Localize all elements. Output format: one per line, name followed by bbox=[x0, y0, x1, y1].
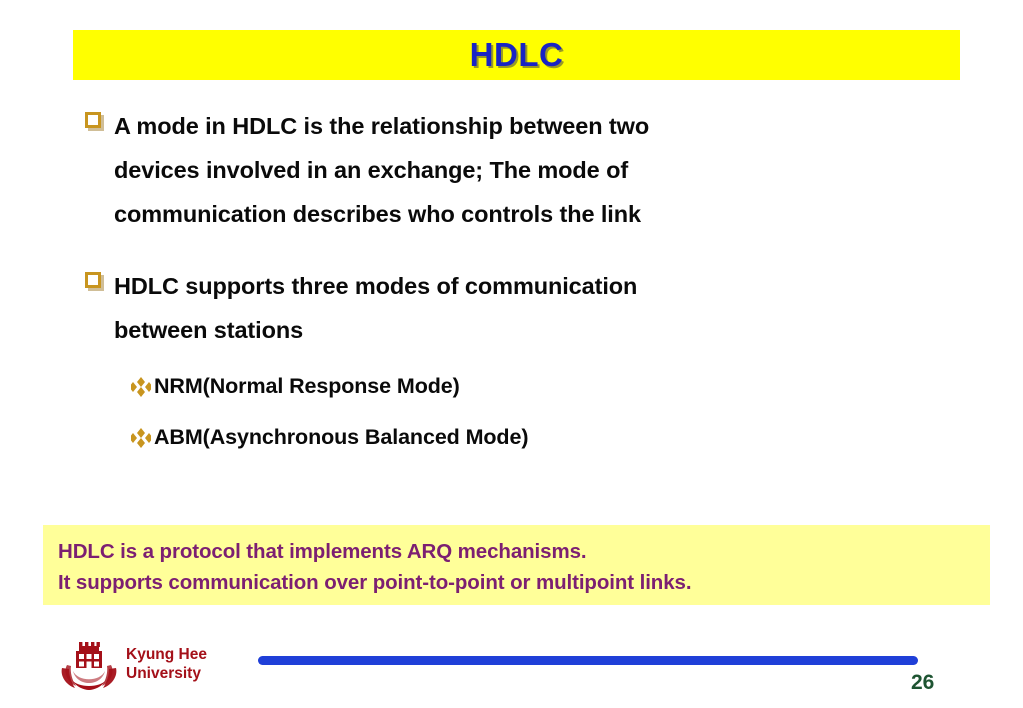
sub-bullet-abm-text: ABM(Asynchronous Balanced Mode) bbox=[154, 425, 528, 450]
slide-canvas: HDLC A mode in HDLC is the relationship … bbox=[0, 0, 1023, 708]
sub-bullet-nrm-text: NRM(Normal Response Mode) bbox=[154, 374, 460, 399]
summary-callout-box: HDLC is a protocol that implements ARQ m… bbox=[43, 525, 990, 605]
page-number: 26 bbox=[911, 671, 934, 695]
bullet-2-line-2: between stations bbox=[114, 317, 303, 343]
kyung-hee-university-crest-icon bbox=[58, 638, 120, 690]
bullet-item-2: HDLC supports three modes of communicati… bbox=[85, 264, 905, 352]
bullet-item-1-text: A mode in HDLC is the relationship betwe… bbox=[114, 104, 649, 236]
university-name: Kyung Hee University bbox=[126, 645, 207, 683]
bullet-item-2-text: HDLC supports three modes of communicati… bbox=[114, 264, 637, 352]
university-name-line-2: University bbox=[126, 665, 201, 682]
footer-divider-rule bbox=[258, 656, 918, 665]
university-name-line-1: Kyung Hee bbox=[126, 646, 207, 663]
diamond-cluster-bullet-icon bbox=[131, 427, 151, 449]
diamond-cluster-bullet-icon bbox=[131, 376, 151, 398]
sub-bullet-item-abm: ABM(Asynchronous Balanced Mode) bbox=[131, 425, 528, 450]
sub-bullet-item-nrm: NRM(Normal Response Mode) bbox=[131, 374, 460, 399]
bullet-item-1: A mode in HDLC is the relationship betwe… bbox=[85, 104, 885, 236]
bullet-1-line-3: communication describes who controls the… bbox=[114, 201, 641, 227]
university-logo: Kyung Hee University bbox=[58, 638, 207, 690]
bullet-1-line-1: A mode in HDLC is the relationship betwe… bbox=[114, 113, 649, 139]
callout-line-1: HDLC is a protocol that implements ARQ m… bbox=[58, 536, 990, 567]
bullet-2-line-1: HDLC supports three modes of communicati… bbox=[114, 273, 637, 299]
callout-line-2: It supports communication over point-to-… bbox=[58, 567, 990, 598]
bullet-1-line-2: devices involved in an exchange; The mod… bbox=[114, 157, 628, 183]
title-banner: HDLC bbox=[73, 30, 960, 80]
hollow-square-bullet-icon bbox=[85, 112, 101, 128]
hollow-square-bullet-icon bbox=[85, 272, 101, 288]
page-title: HDLC bbox=[73, 36, 960, 74]
